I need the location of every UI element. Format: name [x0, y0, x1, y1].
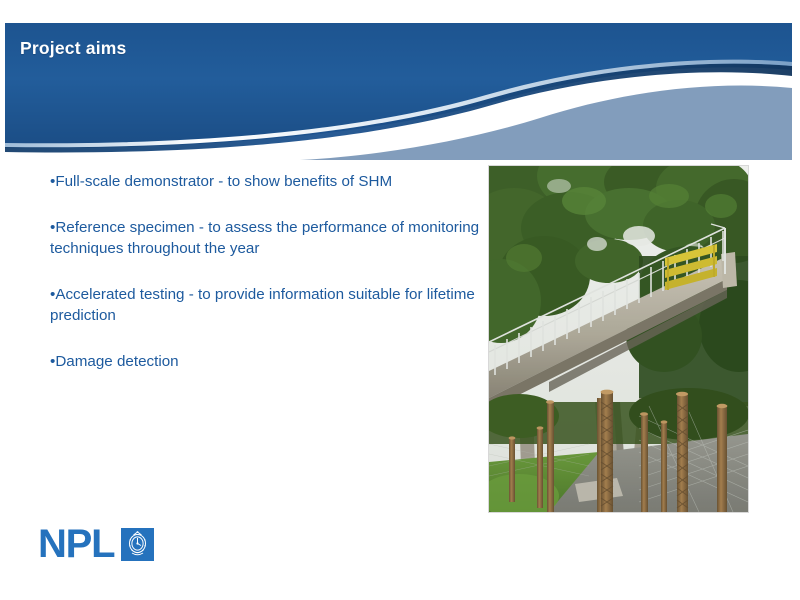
bullet-item: •Damage detection	[50, 352, 482, 373]
footbridge-photo-graphic	[489, 166, 748, 512]
bullet-text: Reference specimen - to assess the perfo…	[50, 219, 479, 257]
bullet-list: •Full-scale demonstrator - to show benef…	[50, 172, 482, 373]
footbridge-photo	[489, 166, 748, 512]
npl-crest-emblem-graphic	[121, 528, 154, 561]
slide-canvas: Project aims •Full-scale demonstrator - …	[0, 0, 800, 600]
header-banner-graphic	[0, 0, 800, 160]
npl-crest-icon	[121, 528, 154, 561]
bullet-text: Full-scale demonstrator - to show benefi…	[55, 173, 392, 190]
bullet-item: •Accelerated testing - to provide inform…	[50, 285, 482, 327]
bullet-text: Damage detection	[55, 353, 178, 370]
npl-wordmark: NPL	[38, 524, 114, 564]
bullet-item: •Full-scale demonstrator - to show benef…	[50, 172, 482, 193]
header-banner: Project aims	[0, 0, 800, 160]
npl-logo: NPL	[38, 524, 154, 564]
slide-title: Project aims	[20, 38, 126, 59]
bullet-text: Accelerated testing - to provide informa…	[50, 286, 475, 324]
bullet-item: •Reference specimen - to assess the perf…	[50, 218, 482, 260]
